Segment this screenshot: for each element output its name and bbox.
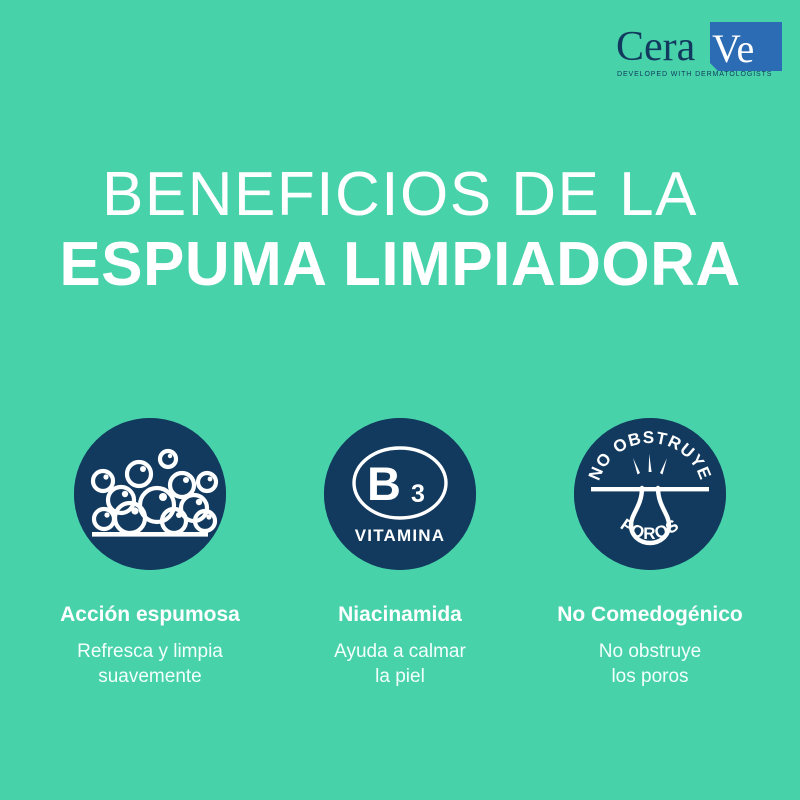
surface-line [92, 532, 208, 537]
vitamin-b3-icon: B 3 VITAMINA [324, 418, 476, 570]
benefit-description: No obstruye los poros [599, 639, 701, 689]
logo-tagline: DEVELOPED WITH DERMATOLOGISTS [617, 71, 772, 78]
benefit-title: No Comedogénico [557, 602, 743, 628]
benefit-description: Refresca y limpia suavemente [77, 639, 223, 689]
title-line-2: ESPUMA LIMPIADORA [0, 230, 800, 300]
benefit-description: Ayuda a calmar la piel [334, 639, 466, 689]
b3-letter: B [367, 457, 401, 510]
benefits-row: Acción espumosa Refresca y limpia suavem… [0, 418, 800, 689]
page-title: BENEFICIOS DE LA ESPUMA LIMPIADORA [0, 160, 800, 300]
benefit-title: Niacinamida [338, 602, 462, 628]
skin-surface-line [591, 487, 709, 491]
title-line-1: BENEFICIOS DE LA [0, 160, 800, 230]
benefit-description-line-2: la piel [375, 666, 425, 687]
logo-wordmark-ve: Ve [712, 26, 754, 71]
benefit-item-non-comedogenic: NO OBSTRUYE POROS [525, 418, 775, 689]
foam-bubbles-icon [74, 418, 226, 570]
non-comedogenic-pore-icon: NO OBSTRUYE POROS [574, 418, 726, 570]
benefit-badge: B 3 VITAMINA [324, 418, 476, 570]
promo-poster: Cera Ve DEVELOPED WITH DERMATOLOGISTS BE… [0, 0, 800, 800]
benefit-description-line-1: Ayuda a calmar [334, 641, 466, 662]
benefit-badge: NO OBSTRUYE POROS [574, 418, 726, 570]
benefit-description-line-2: los poros [611, 666, 688, 687]
benefit-item-niacinamide: B 3 VITAMINA Niacinamida Ayuda a calmar … [275, 418, 525, 689]
b3-caption: VITAMINA [355, 526, 446, 545]
benefit-description-line-2: suavemente [98, 666, 202, 687]
benefit-description-line-1: No obstruye [599, 641, 701, 662]
logo-wordmark-cera: Cera [616, 24, 696, 70]
b3-subscript: 3 [411, 480, 425, 508]
cerave-logo: Cera Ve DEVELOPED WITH DERMATOLOGISTS [614, 22, 782, 84]
benefit-badge [74, 418, 226, 570]
benefit-item-foam: Acción espumosa Refresca y limpia suavem… [25, 418, 275, 689]
benefit-title: Acción espumosa [60, 602, 240, 628]
benefit-description-line-1: Refresca y limpia [77, 641, 223, 662]
